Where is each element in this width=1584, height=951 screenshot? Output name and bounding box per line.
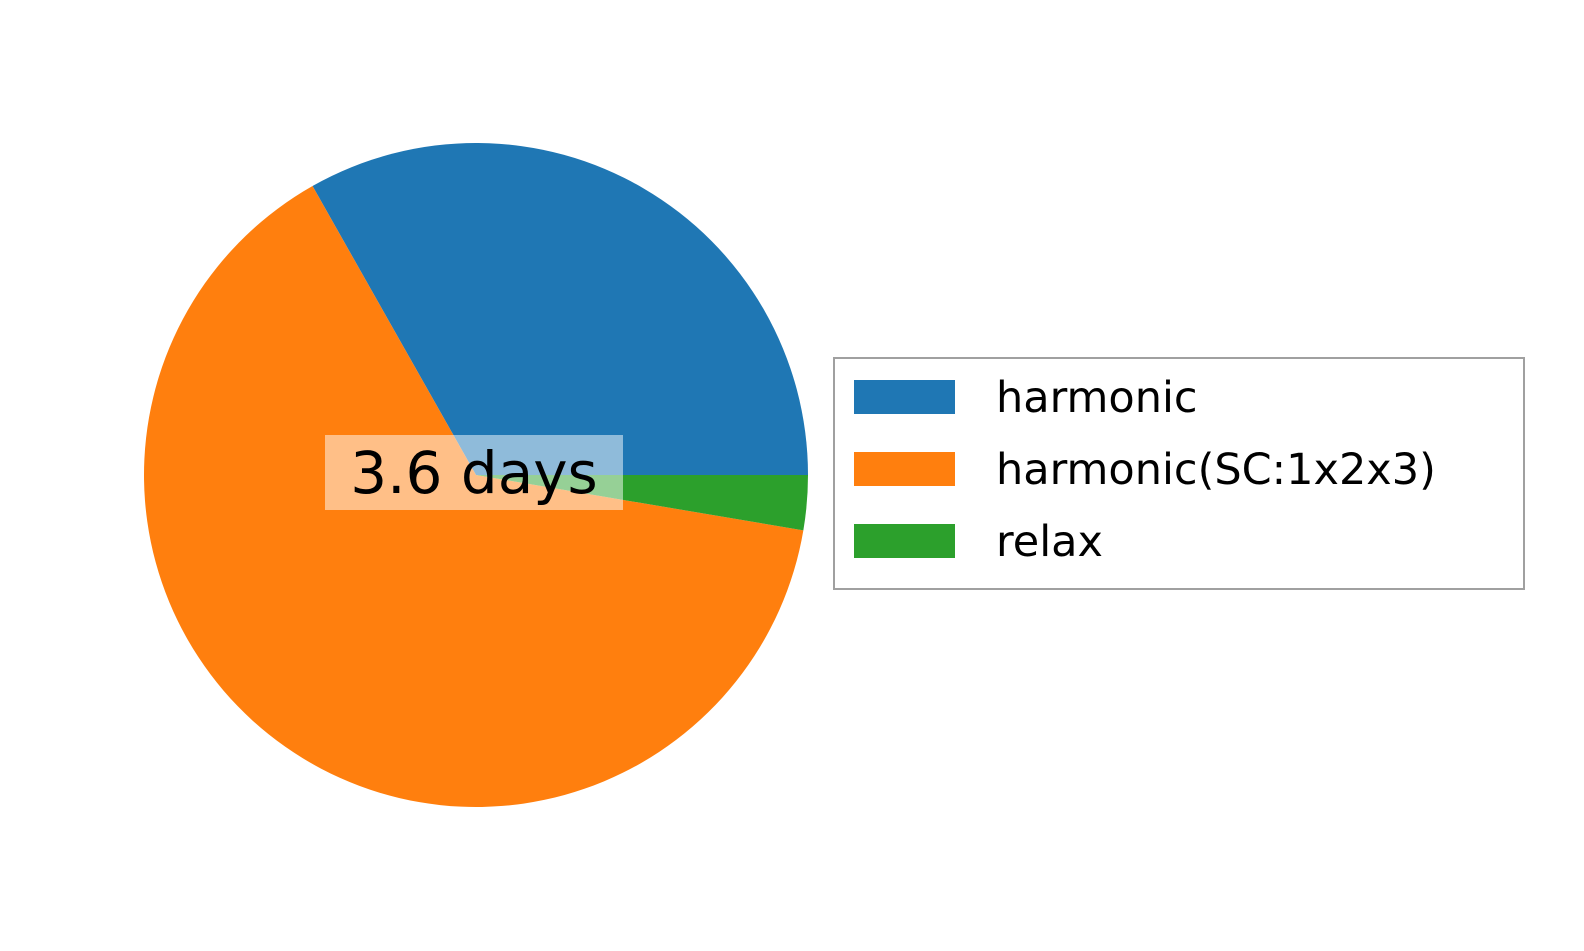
legend-label-harmonic: harmonic <box>996 377 1198 420</box>
legend-label-relax: relax <box>996 521 1103 564</box>
legend-swatch-harmonic <box>854 380 955 414</box>
legend-label-harmonic-sc: harmonic(SC:1x2x3) <box>996 449 1436 492</box>
legend-item-relax[interactable]: relax <box>854 524 1103 558</box>
chart-legend: harmonic harmonic(SC:1x2x3) relax <box>833 357 1525 590</box>
legend-swatch-relax <box>854 524 955 558</box>
pie-chart-figure: 3.6 days harmonic harmonic(SC:1x2x3) rel… <box>0 0 1584 951</box>
center-annotation-label: 3.6 days <box>325 435 623 510</box>
legend-swatch-harmonic-sc <box>854 452 955 486</box>
legend-item-harmonic-sc[interactable]: harmonic(SC:1x2x3) <box>854 452 1436 486</box>
legend-item-harmonic[interactable]: harmonic <box>854 380 1198 414</box>
